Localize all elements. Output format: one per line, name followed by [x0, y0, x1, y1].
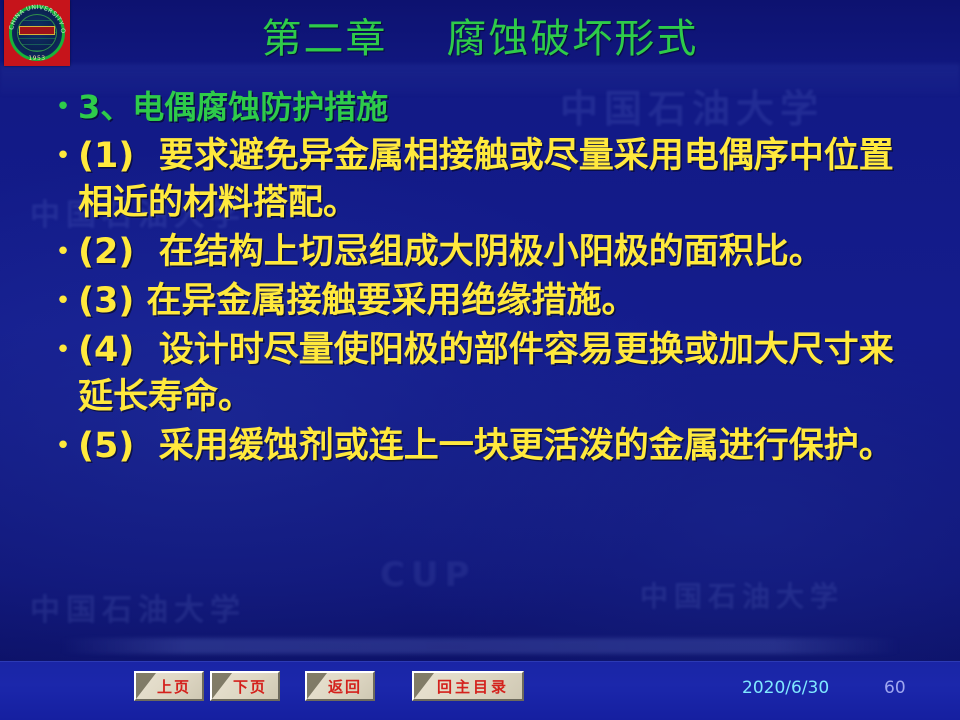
bullet-marker: •	[48, 423, 78, 469]
prev-page-label: 上页	[147, 676, 191, 697]
bullet-item: • (1) 要求避免异金属相接触或尽量采用电偶序中位置相近的材料搭配。	[48, 133, 924, 227]
bullet-text: (5) 采用缓蚀剂或连上一块更活泼的金属进行保护。	[78, 423, 924, 470]
bullet-item: • (2) 在结构上切忌组成大阴极小阳极的面积比。	[48, 229, 924, 276]
bullet-item: • (4) 设计时尽量使阳极的部件容易更换或加大尺寸来延长寿命。	[48, 327, 924, 421]
bullet-text: 3、电偶腐蚀防护措施	[78, 84, 924, 131]
bullet-text: (4) 设计时尽量使阳极的部件容易更换或加大尺寸来延长寿命。	[78, 327, 924, 421]
slide-footer: 上页 下页 返回 回主目录 2020/6/30 60	[0, 661, 960, 720]
back-label: 返回	[318, 676, 362, 697]
back-button[interactable]: 返回	[305, 671, 375, 701]
presentation-slide: 中国石油大学 中国石油大学 中国石油大学 CUP 中国石油大学 CHINA UN…	[0, 0, 960, 720]
bullet-marker: •	[48, 84, 78, 130]
next-page-button[interactable]: 下页	[210, 671, 280, 701]
bullet-text: (3) 在异金属接触要采用绝缘措施。	[78, 278, 924, 325]
bullet-item: • (3) 在异金属接触要采用绝缘措施。	[48, 278, 924, 325]
prev-page-button[interactable]: 上页	[134, 671, 204, 701]
slide-body: • 3、电偶腐蚀防护措施 • (1) 要求避免异金属相接触或尽量采用电偶序中位置…	[48, 84, 924, 472]
page-title: 第二章 腐蚀破坏形式	[0, 6, 960, 64]
bullet-marker: •	[48, 229, 78, 275]
slide-date: 2020/6/30	[742, 678, 829, 698]
bullet-item: • 3、电偶腐蚀防护措施	[48, 84, 924, 131]
background-watermark-text: 中国石油大学	[640, 575, 844, 615]
background-band-bottom	[60, 638, 900, 654]
bullet-item: • (5) 采用缓蚀剂或连上一块更活泼的金属进行保护。	[48, 423, 924, 470]
next-page-label: 下页	[223, 676, 267, 697]
bullet-marker: •	[48, 327, 78, 373]
background-watermark-text: 中国石油大学	[30, 585, 246, 629]
background-watermark-logo: CUP	[380, 555, 475, 595]
bullet-text: (2) 在结构上切忌组成大阴极小阳极的面积比。	[78, 229, 924, 276]
slide-page-number: 60	[884, 678, 906, 698]
bullet-text: (1) 要求避免异金属相接触或尽量采用电偶序中位置相近的材料搭配。	[78, 133, 924, 227]
main-menu-label: 回主目录	[427, 676, 509, 697]
bullet-marker: •	[48, 278, 78, 324]
main-menu-button[interactable]: 回主目录	[412, 671, 524, 701]
bullet-marker: •	[48, 133, 78, 179]
